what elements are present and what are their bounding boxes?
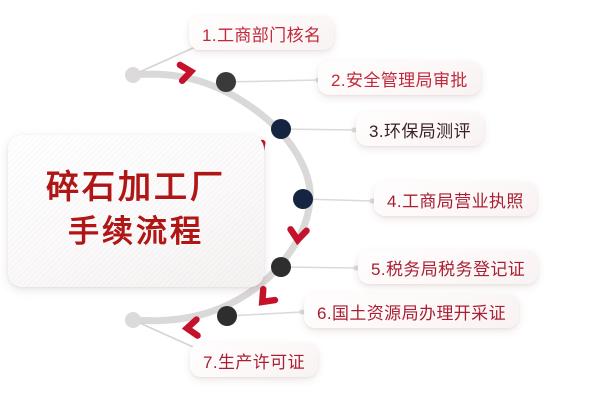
- step-item-7[interactable]: 7.生产许可证: [190, 343, 318, 377]
- node-start: [125, 67, 141, 83]
- connector-line-6: [227, 312, 302, 316]
- step-label-1: 1.工商部门核名: [202, 21, 321, 46]
- arrow-1-icon: [180, 64, 192, 81]
- connector-line-2: [226, 80, 318, 82]
- step-label-7: 7.生产许可证: [203, 348, 305, 373]
- connector-line-4: [303, 199, 372, 201]
- step-label-6: 6.国土资源局办理开采证: [317, 299, 506, 324]
- title-line-1: 碎石加工厂: [46, 163, 226, 211]
- step-item-5[interactable]: 5.税务局税务登记证: [358, 250, 538, 284]
- step-item-2[interactable]: 2.安全管理局审批: [318, 61, 481, 95]
- step-label-5: 5.税务局税务登记证: [371, 255, 525, 280]
- connector-line-3: [281, 129, 354, 130]
- arrow-4-icon: [256, 289, 275, 307]
- step-label-2: 2.安全管理局审批: [331, 66, 468, 91]
- node-step-2: [216, 72, 236, 92]
- node-step-3: [271, 119, 291, 139]
- connector-line-5: [281, 267, 356, 268]
- step-label-4: 4.工商局营业执照: [387, 187, 524, 212]
- arrow-5-icon: [186, 320, 197, 337]
- step-item-1[interactable]: 1.工商部门核名: [189, 16, 334, 50]
- flow-infographic: 碎石加工厂 手续流程 1.工商部门核名 2.安全管理局审批 3.环保局测评 4.…: [0, 0, 600, 400]
- step-item-3[interactable]: 3.环保局测评: [356, 112, 484, 146]
- node-step-4: [293, 189, 313, 209]
- step-item-6[interactable]: 6.国土资源局办理开采证: [304, 294, 519, 328]
- node-step-6: [217, 306, 237, 326]
- step-item-4[interactable]: 4.工商局营业执照: [374, 182, 537, 216]
- node-end: [125, 312, 141, 328]
- step-label-3: 3.环保局测评: [369, 117, 471, 142]
- title-panel: 碎石加工厂 手续流程: [8, 135, 264, 287]
- node-step-5: [271, 257, 291, 277]
- title-line-2: 手续流程: [68, 210, 204, 255]
- arrow-3-icon: [290, 229, 307, 240]
